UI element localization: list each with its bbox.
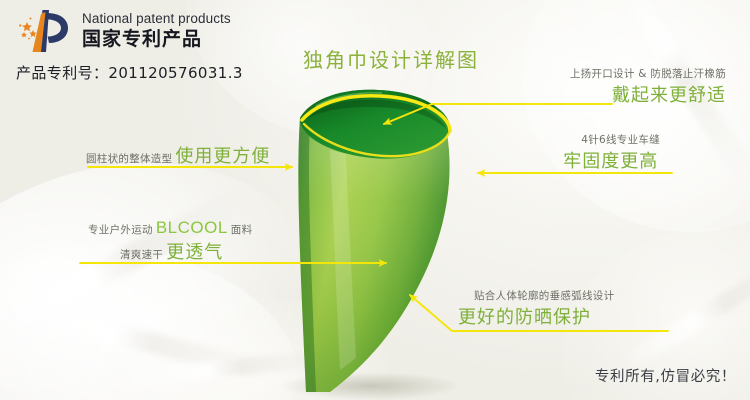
fabric-brand-name: BLCOOL — [156, 218, 228, 238]
annotation-convenient: 圆柱状的整体造型 使用更方便 — [86, 142, 270, 168]
brand-name-cn: 国家专利产品 — [82, 30, 231, 50]
annotation-strength: 4针6线专业车缝 牢固度更高 — [563, 132, 660, 173]
annotation-breathable-sub-b: 面料 — [231, 222, 253, 237]
annotation-sun-head: 更好的防晒保护 — [458, 303, 614, 329]
annotation-breathable-head: 更透气 — [166, 238, 223, 264]
patent-p-logo-icon — [16, 8, 72, 54]
annotation-comfort-sub: 上扬开口设计 & 防脱落止汗橡筋 — [570, 66, 726, 81]
annotation-breathable-sub-a: 专业户外运动 — [88, 222, 153, 237]
brand-name-en: National patent products — [82, 12, 231, 26]
annotation-convenient-sub: 圆柱状的整体造型 — [86, 151, 172, 166]
annotation-breathable-sub-c: 清爽速干 — [120, 247, 163, 262]
annotation-sun-sub: 贴合人体轮廓的垂感弧线设计 — [458, 288, 614, 303]
annotation-comfort: 上扬开口设计 & 防脱落止汗橡筋 戴起来更舒适 — [570, 66, 726, 107]
annotation-sun-protection: 贴合人体轮廓的垂感弧线设计 更好的防晒保护 — [458, 288, 614, 329]
annotation-breathable: 专业户外运动 BLCOOL 面料 清爽速干 更透气 — [88, 218, 252, 264]
annotation-strength-sub: 4针6线专业车缝 — [563, 132, 660, 147]
copyright-note: 专利所有,仿冒必究！ — [595, 365, 736, 386]
patent-number: 产品专利号：201120576031.3 — [16, 62, 243, 83]
annotation-strength-head: 牢固度更高 — [563, 147, 660, 173]
brand-header: National patent products 国家专利产品 — [16, 8, 231, 54]
product-detail-infographic: National patent products 国家专利产品 产品专利号：20… — [0, 0, 750, 400]
product-body — [298, 90, 450, 392]
page-title: 独角巾设计详解图 — [303, 44, 479, 73]
annotation-comfort-head: 戴起来更舒适 — [570, 81, 726, 107]
annotation-convenient-head: 使用更方便 — [175, 142, 270, 168]
